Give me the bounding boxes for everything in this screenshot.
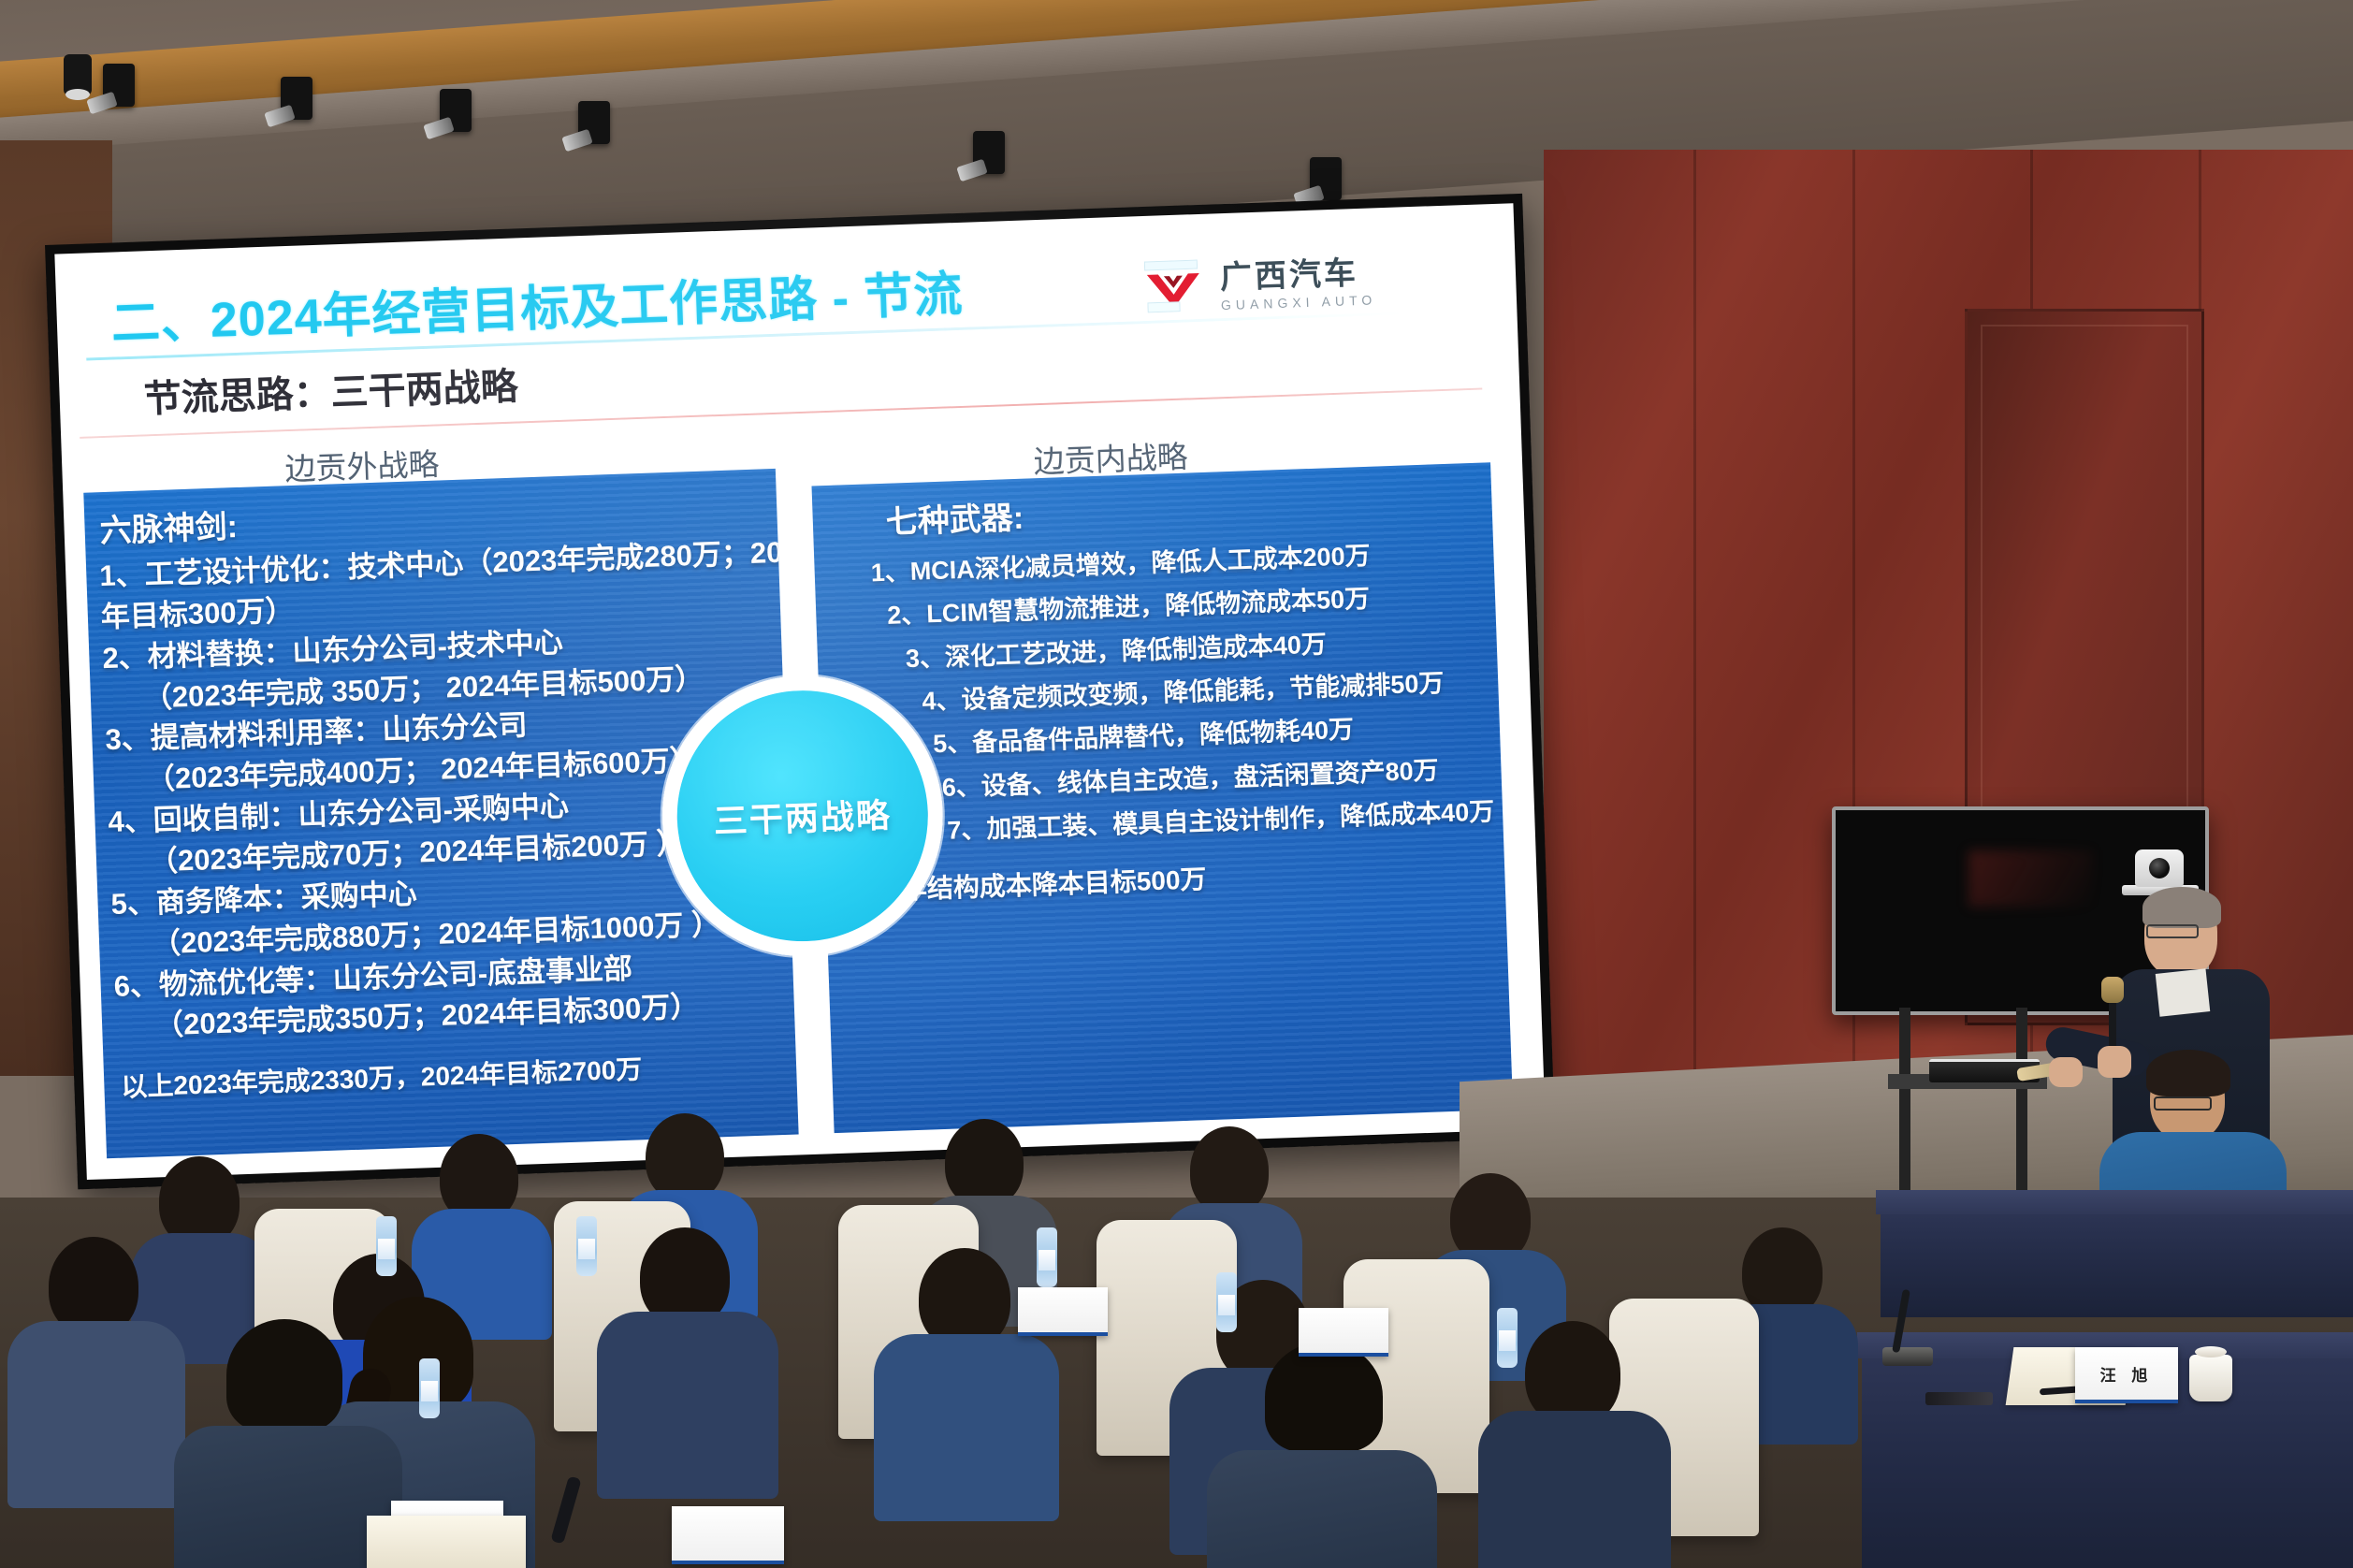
speaker-glasses-icon: [2146, 924, 2199, 938]
slide-title: 二、2024年经营目标及工作思路 - 节流: [109, 254, 964, 355]
attendee-head: [1190, 1126, 1269, 1214]
conference-room-photo: 二、2024年经营目标及工作思路 - 节流 节流思路：三干两战略 广西汽车: [0, 0, 2353, 1568]
speaker-hand: [2049, 1057, 2083, 1087]
speaker-hair: [2142, 887, 2221, 928]
ceiling-spotlight-icon: [103, 64, 135, 107]
attendee-body: [1478, 1411, 1671, 1568]
attendee-body: [597, 1312, 778, 1499]
attendee-body: [1207, 1450, 1437, 1568]
ptz-camera-icon: [2135, 849, 2184, 887]
name-card: [1299, 1308, 1388, 1357]
attendee-hair: [226, 1319, 342, 1431]
right-panel-item: 2、LCIM智慧物流推进，降低物流成本50万: [887, 581, 1496, 629]
head-table-drape: [1881, 1205, 2353, 1317]
name-card: [1018, 1287, 1108, 1336]
center-circle-label: 三干两战略: [713, 789, 893, 844]
tv-stand-leg: [2016, 1008, 2027, 1195]
ceiling-spotlight-icon: [64, 54, 92, 95]
tv-stand-leg: [1899, 1008, 1910, 1195]
name-card: [672, 1506, 784, 1564]
attendee-head: [646, 1113, 724, 1201]
name-card-text: 汪 旭: [2075, 1362, 2178, 1386]
speaker-shirt-collar: [2156, 968, 2211, 1016]
right-panel-footer: 2024年结构成本降本目标500万: [842, 849, 1505, 909]
left-panel-footer: 以上2023年完成2330万，2024年目标2700万: [121, 1044, 797, 1105]
attendee-hair: [1265, 1342, 1383, 1452]
presentation-slide: 二、2024年经营目标及工作思路 - 节流 节流思路：三干两战略 广西汽车: [54, 203, 1546, 1180]
company-logo: 广西汽车 GUANGXI AUTO: [1140, 239, 1405, 330]
water-bottle: [1497, 1308, 1518, 1368]
attendee-head: [945, 1119, 1024, 1207]
teacup: [2189, 1355, 2232, 1401]
logo-text-en: GUANGXI AUTO: [1221, 293, 1377, 312]
attendee-body: [874, 1334, 1059, 1521]
water-bottle: [1037, 1227, 1057, 1287]
head-table-top: [1876, 1190, 2353, 1214]
screen-frame: 二、2024年经营目标及工作思路 - 节流 节流思路：三干两战略 广西汽车: [45, 194, 1555, 1190]
water-bottle: [419, 1358, 440, 1418]
slide-subtitle: 节流思路：三干两战略: [143, 356, 519, 423]
attendee-glasses-icon: [2154, 1096, 2212, 1111]
projection-screen: 二、2024年经营目标及工作思路 - 节流 节流思路：三干两战略 广西汽车: [45, 194, 1555, 1190]
water-bottle: [376, 1216, 397, 1276]
conference-microphone-base: [1882, 1347, 1933, 1366]
attendee-body: [7, 1321, 185, 1508]
right-panel-item: 1、MCIA深化减员增效，降低人工成本200万: [870, 538, 1494, 587]
phone-icon: [1925, 1392, 1993, 1405]
right-panel-item: 5、备品备件品牌替代，降低物耗40万: [933, 711, 1501, 757]
ceiling-spotlight-icon: [1310, 157, 1342, 200]
water-bottle: [1216, 1272, 1237, 1332]
attendee-hair: [2146, 1050, 2230, 1096]
ceiling-spotlight-icon: [973, 131, 1005, 174]
ceiling-spotlight-icon: [281, 77, 312, 120]
ceiling-spotlight-icon: [440, 89, 472, 132]
right-panel-item: 4、设备定频改变频，降低能耗，节能减排50万: [922, 668, 1499, 715]
v-wing-mark-icon: [1140, 258, 1210, 318]
water-bottle: [576, 1216, 597, 1276]
attendee-front-right: [1203, 1349, 1437, 1568]
name-card: 汪 旭: [2075, 1347, 2178, 1403]
right-panel-heading: 七种武器:: [885, 475, 1492, 543]
right-panel-item: 6、设备、线体自主改造，盘活闲置资产80万: [941, 755, 1502, 801]
right-panel-item: 3、深化工艺改进，降低制造成本40万: [905, 625, 1497, 672]
ceiling-spotlight-icon: [578, 101, 610, 144]
microphone-head-icon: [2101, 977, 2124, 1003]
right-panel-item: 7、加强工装、模具自主设计制作，降低成本40万: [947, 798, 1503, 844]
logo-text-cn: 广西汽车: [1219, 256, 1375, 294]
notebook: [367, 1516, 526, 1568]
